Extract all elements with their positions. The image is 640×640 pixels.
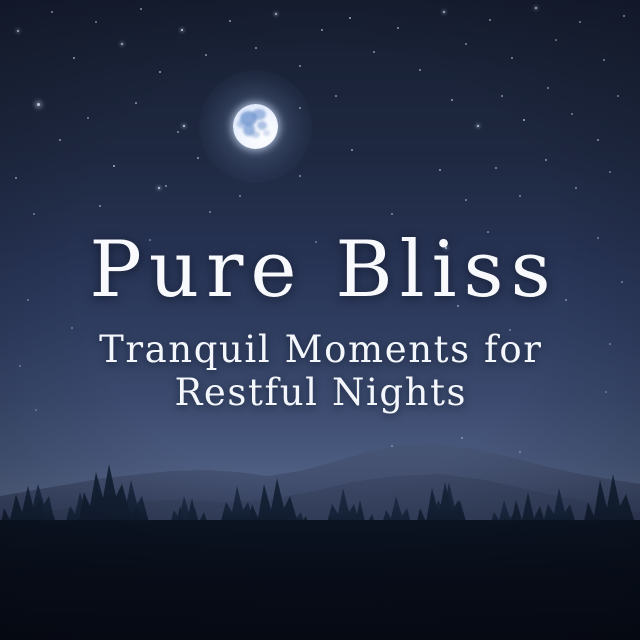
album-cover-artwork: Pure Bliss Tranquil Moments for Restful … [0,0,640,640]
star [135,102,137,104]
moon-disc [233,104,278,149]
star [209,211,211,213]
star [121,43,123,45]
full-moon-icon [233,104,278,149]
star [140,8,142,10]
star [519,195,521,197]
star [547,87,549,89]
star [545,159,547,161]
star [87,117,89,119]
star [95,21,97,23]
star [391,213,393,215]
star [59,139,61,141]
star [299,175,301,177]
star [275,13,277,15]
star [623,15,625,17]
star [451,99,453,101]
star [239,195,241,197]
star [158,187,161,190]
star [443,11,445,13]
star [73,57,75,59]
star [335,95,337,97]
star [555,39,557,41]
moon-maria [237,120,245,128]
star [349,17,351,19]
cover-subtitle: Tranquil Moments for Restful Nights [0,328,640,414]
moon-maria [252,109,266,120]
star [181,29,184,32]
star [183,125,186,128]
star [205,54,207,56]
star [495,167,497,169]
star [523,119,525,121]
star [177,131,179,133]
foreground-ground [0,520,640,640]
star [255,47,257,49]
star [113,165,115,167]
star [465,199,467,201]
star [397,27,399,29]
star [321,29,323,31]
star [535,7,538,10]
star [609,171,611,173]
star [597,139,599,141]
star [51,11,53,13]
moon-maria [263,130,270,136]
star [575,187,577,189]
star [419,69,421,71]
star [15,177,17,179]
star [439,169,441,171]
star [37,103,40,106]
star [511,57,513,59]
star [299,65,301,67]
star [99,205,101,207]
star [571,113,573,115]
star [373,51,375,53]
cover-subtitle-line-2: Restful Nights [0,371,640,414]
star [579,21,581,23]
star [465,43,467,45]
star [501,95,503,97]
star [229,20,231,22]
star [489,19,491,21]
star [617,95,619,97]
star [17,30,20,33]
star [603,59,605,61]
star [159,71,161,73]
cover-subtitle-line-1: Tranquil Moments for [0,328,640,371]
star [351,149,353,151]
star [33,213,35,215]
star [165,185,167,187]
moon-maria [251,131,260,138]
moon-maria [257,121,267,130]
star [197,157,199,159]
star [477,125,480,128]
cover-title: Pure Bliss [0,228,640,312]
